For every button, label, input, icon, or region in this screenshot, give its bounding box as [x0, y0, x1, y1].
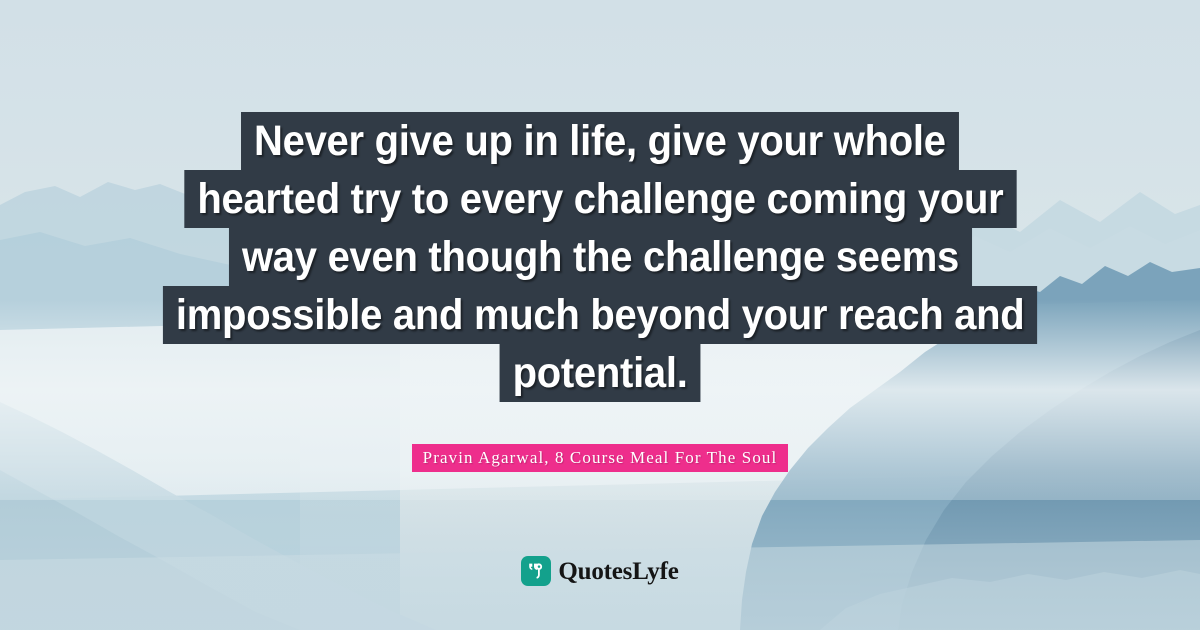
quote-line-text: hearted try to every challenge coming yo…: [184, 170, 1016, 228]
quote-line: hearted try to every challenge coming yo…: [0, 170, 1200, 228]
quote-line: way even though the challenge seems: [0, 228, 1200, 286]
brand-wordmark: QuotesLyfe: [558, 559, 678, 584]
quote-line: potential.: [0, 344, 1200, 402]
mist-layer-low: [0, 470, 1200, 630]
quote-text-block: Never give up in life, give your whole h…: [0, 112, 1200, 402]
quote-mark-icon: [521, 556, 551, 586]
quote-line-text: potential.: [500, 344, 701, 402]
attribution: Pravin Agarwal, 8 Course Meal For The So…: [0, 444, 1200, 472]
quote-line-text: impossible and much beyond your reach an…: [163, 286, 1038, 344]
attribution-text: Pravin Agarwal, 8 Course Meal For The So…: [412, 444, 789, 472]
quote-line: impossible and much beyond your reach an…: [0, 286, 1200, 344]
quote-line-text: way even though the challenge seems: [228, 228, 971, 286]
brand-logo: QuotesLyfe: [0, 556, 1200, 586]
quote-card: Never give up in life, give your whole h…: [0, 0, 1200, 630]
quote-line: Never give up in life, give your whole: [0, 112, 1200, 170]
quote-line-text: Never give up in life, give your whole: [241, 112, 959, 170]
